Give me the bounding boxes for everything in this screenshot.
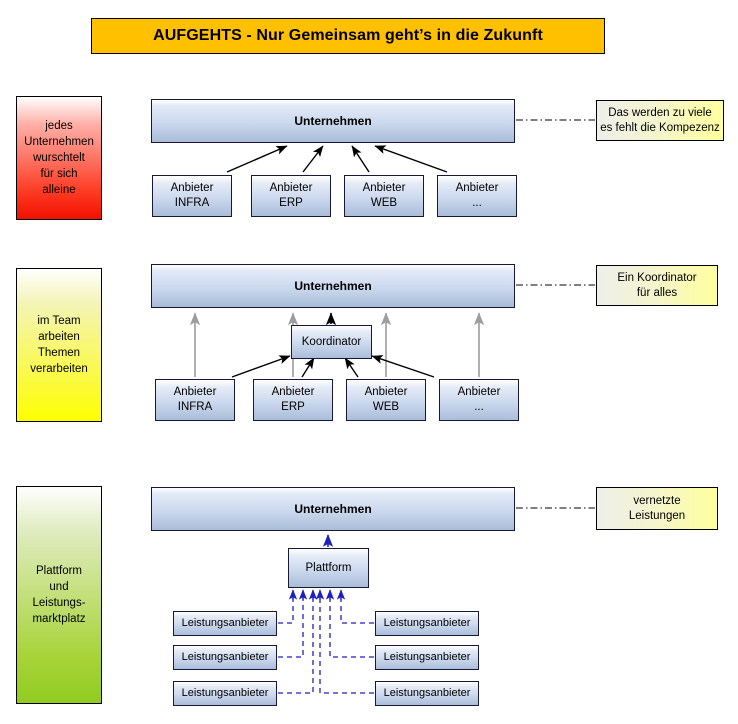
provider-1-erp[interactable]: Anbieter ERP xyxy=(251,175,331,217)
provider-1-infra[interactable]: Anbieter INFRA xyxy=(152,175,232,217)
company-bar-1[interactable]: Unternehmen xyxy=(151,99,515,143)
provider-2-other-label: Anbieter ... xyxy=(458,385,501,415)
note-2: Ein Koordinator für alles xyxy=(596,265,718,306)
stage3-blue-arrowheads xyxy=(293,590,341,600)
company-bar-1-label: Unternehmen xyxy=(294,114,371,129)
page-title-text: AUFGEHTS - Nur Gemeinsam geht’s in die Z… xyxy=(153,27,543,45)
service-provider-right-1-label: Leistungsanbieter xyxy=(384,616,471,631)
coordinator-label: Koordinator xyxy=(302,335,361,350)
service-provider-left-3-label: Leistungsanbieter xyxy=(182,686,269,701)
provider-1-web[interactable]: Anbieter WEB xyxy=(344,175,424,217)
stage-label-2-text: im Team arbeiten Themen verarbeiten xyxy=(30,313,88,377)
provider-1-web-label: Anbieter WEB xyxy=(363,181,406,211)
coordinator-node[interactable]: Koordinator xyxy=(291,325,372,359)
service-provider-left-1[interactable]: Leistungsanbieter xyxy=(173,611,277,636)
company-bar-2[interactable]: Unternehmen xyxy=(151,264,515,308)
provider-2-web[interactable]: Anbieter WEB xyxy=(346,379,426,421)
stage2-black-arrows xyxy=(232,356,434,377)
stage-label-3: Plattform und Leistungs- marktplatz xyxy=(16,486,102,704)
stage1-arrows xyxy=(227,146,447,172)
note-1: Das werden zu viele es fehlt die Kompeze… xyxy=(596,100,724,141)
stage-label-2: im Team arbeiten Themen verarbeiten xyxy=(16,268,102,422)
service-provider-right-3-label: Leistungsanbieter xyxy=(384,686,471,701)
company-bar-3[interactable]: Unternehmen xyxy=(151,487,515,531)
stage-label-1-text: jedes Unternehmen wurschtelt für sich al… xyxy=(24,118,94,198)
page-title: AUFGEHTS - Nur Gemeinsam geht’s in die Z… xyxy=(91,18,605,54)
service-provider-right-3[interactable]: Leistungsanbieter xyxy=(375,681,479,706)
stage-label-3-text: Plattform und Leistungs- marktplatz xyxy=(32,563,85,627)
service-provider-right-1[interactable]: Leistungsanbieter xyxy=(375,611,479,636)
diagram-canvas: AUFGEHTS - Nur Gemeinsam geht’s in die Z… xyxy=(0,0,738,724)
stage-label-1: jedes Unternehmen wurschtelt für sich al… xyxy=(16,96,102,220)
provider-1-erp-label: Anbieter ERP xyxy=(270,181,313,211)
service-provider-right-2-label: Leistungsanbieter xyxy=(384,650,471,665)
note-3: vernetzte Leistungen xyxy=(596,487,718,530)
provider-2-other[interactable]: Anbieter ... xyxy=(439,379,519,421)
provider-1-other[interactable]: Anbieter ... xyxy=(437,175,517,217)
service-provider-left-2-label: Leistungsanbieter xyxy=(182,650,269,665)
platform-label: Plattform xyxy=(305,561,351,576)
service-provider-left-2[interactable]: Leistungsanbieter xyxy=(173,645,277,670)
provider-1-infra-label: Anbieter INFRA xyxy=(171,181,214,211)
provider-1-other-label: Anbieter ... xyxy=(456,181,499,211)
provider-2-erp[interactable]: Anbieter ERP xyxy=(253,379,333,421)
provider-2-infra-label: Anbieter INFRA xyxy=(174,385,217,415)
note-1-text: Das werden zu viele es fehlt die Kompeze… xyxy=(600,106,720,136)
provider-2-web-label: Anbieter WEB xyxy=(365,385,408,415)
platform-node[interactable]: Plattform xyxy=(288,548,369,588)
service-provider-right-2[interactable]: Leistungsanbieter xyxy=(375,645,479,670)
provider-2-infra[interactable]: Anbieter INFRA xyxy=(155,379,235,421)
note-3-text: vernetzte Leistungen xyxy=(629,494,685,524)
company-bar-3-label: Unternehmen xyxy=(294,502,371,517)
stage3-blue-links xyxy=(278,597,374,693)
service-provider-left-3[interactable]: Leistungsanbieter xyxy=(173,681,277,706)
note-2-text: Ein Koordinator für alles xyxy=(617,271,696,301)
company-bar-2-label: Unternehmen xyxy=(294,279,371,294)
provider-2-erp-label: Anbieter ERP xyxy=(272,385,315,415)
service-provider-left-1-label: Leistungsanbieter xyxy=(182,616,269,631)
